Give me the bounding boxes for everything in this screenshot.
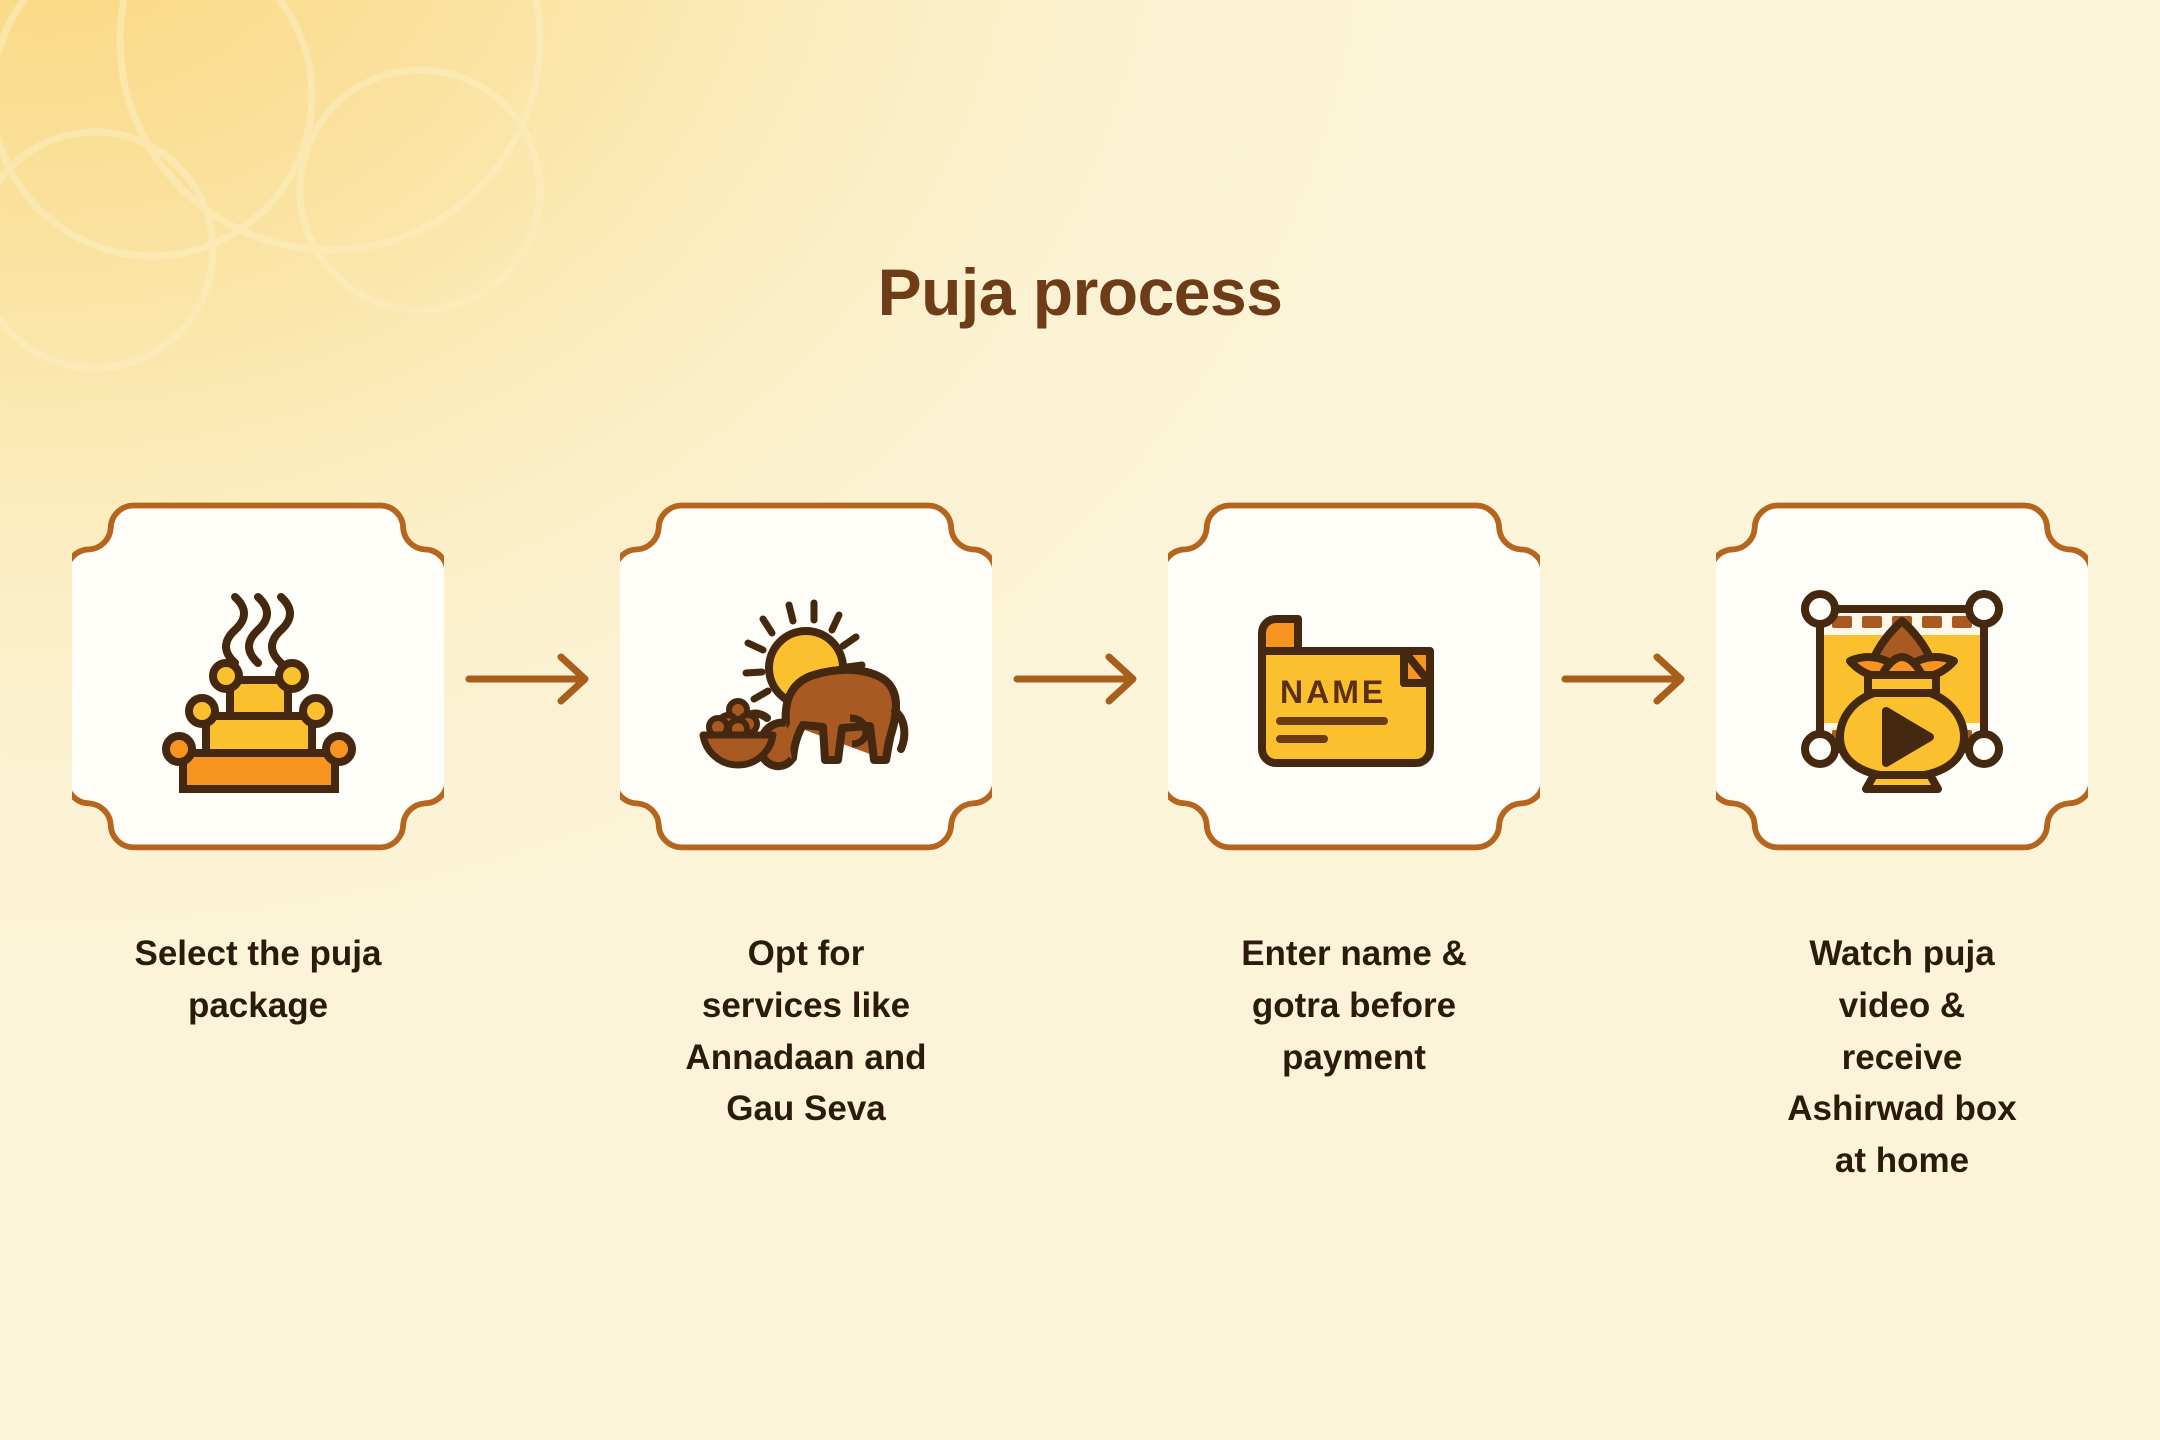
connector-2 — [992, 488, 1168, 870]
process-step-4[interactable]: Watch puja video & receive Ashirwad box … — [1716, 488, 2088, 1187]
step-1-card[interactable] — [72, 488, 444, 870]
name-tag-card-icon: NAME — [1238, 563, 1470, 795]
step-2-caption: Opt for services like Annadaan and Gau S… — [641, 928, 971, 1135]
puja-altar-mandap-icon — [142, 563, 374, 795]
page-title: Puja process — [0, 254, 2160, 330]
step-3-icon-wrap: NAME — [1168, 488, 1540, 870]
process-step-3[interactable]: NAME Enter name & gotra before payment — [1168, 488, 1540, 1083]
arrow-right-icon — [1013, 651, 1147, 707]
step-1-icon-wrap — [72, 488, 444, 870]
process-step-1[interactable]: Select the puja package — [72, 488, 444, 1032]
arrow-right-icon — [465, 651, 599, 707]
step-4-card[interactable] — [1716, 488, 2088, 870]
step-1-caption: Select the puja package — [93, 928, 423, 1032]
step-3-caption: Enter name & gotra before payment — [1189, 928, 1519, 1083]
process-step-2[interactable]: Opt for services like Annadaan and Gau S… — [620, 488, 992, 1135]
connector-1 — [444, 488, 620, 870]
step-2-icon-wrap — [620, 488, 992, 870]
puja-process-steps: Select the puja package — [0, 488, 2160, 1187]
step-4-icon-wrap — [1716, 488, 2088, 870]
step-2-card[interactable] — [620, 488, 992, 870]
arrow-right-icon — [1561, 651, 1695, 707]
cow-gau-seva-icon — [690, 563, 922, 795]
step-3-card[interactable]: NAME — [1168, 488, 1540, 870]
name-tag-label: NAME — [1280, 674, 1386, 710]
connector-3 — [1540, 488, 1716, 870]
kalash-video-icon — [1786, 563, 2018, 795]
step-4-caption: Watch puja video & receive Ashirwad box … — [1737, 928, 2067, 1187]
